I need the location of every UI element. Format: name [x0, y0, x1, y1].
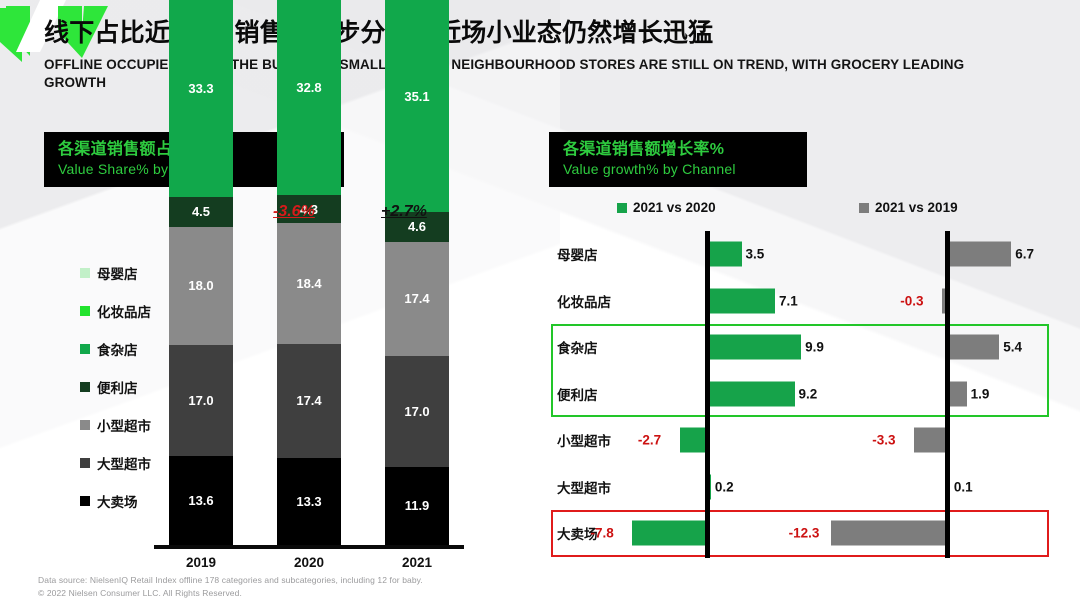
legend-swatch-icon	[80, 382, 90, 392]
stack-segment-大卖场[interactable]: 11.9	[385, 467, 449, 545]
growth-value-2021-vs-2020-化妆品店: 7.1	[779, 293, 798, 308]
right-banner-title-cn: 各渠道销售额增长率%	[563, 139, 793, 160]
legend-label: 食杂店	[97, 339, 138, 359]
legend-swatch-icon	[859, 203, 869, 213]
growth-bar-2021-vs-2019-母婴店[interactable]	[949, 242, 1011, 267]
growth-row-小型超市[interactable]: 小型超市-2.7-3.3	[549, 417, 1054, 464]
legend-label: 母婴店	[97, 263, 138, 283]
growth-bar-2021-vs-2020-食杂店[interactable]	[709, 335, 801, 360]
stacked-bar-2019[interactable]: 8.64.433.34.518.017.013.6	[169, 0, 233, 545]
row-category-label: 食杂店	[557, 337, 598, 357]
x-axis-line	[154, 545, 464, 549]
segment-value-label: 32.8	[296, 80, 321, 95]
segment-value-label: 17.4	[296, 393, 321, 408]
footer-data-source: Data source: NielsenIQ Retail Index offl…	[38, 574, 423, 587]
growth-row-大型超市[interactable]: 大型超市0.20.1	[549, 464, 1054, 511]
stack-segment-大卖场[interactable]: 13.3	[277, 458, 341, 545]
growth-value-2021-vs-2020-母婴店: 3.5	[746, 247, 765, 262]
growth-value-2021-vs-2019-化妆品店: -0.3	[900, 293, 923, 308]
growth-row-便利店[interactable]: 便利店9.21.9	[549, 371, 1054, 418]
right-chart-banner: 各渠道销售额增长率% Value growth% by Channel	[549, 132, 807, 187]
growth-value-2021-vs-2019-小型超市: -3.3	[872, 433, 895, 448]
growth-value-2021-vs-2019-大型超市: 0.1	[954, 479, 973, 494]
growth-value-2021-vs-2020-小型超市: -2.7	[638, 433, 661, 448]
segment-value-label: 17.0	[404, 404, 429, 419]
stack-segment-大型超市[interactable]: 17.0	[169, 345, 233, 456]
growth-value-2021-vs-2020-大型超市: 0.2	[715, 479, 734, 494]
x-axis-label-2020: 2020	[277, 555, 341, 570]
growth-row-母婴店[interactable]: 母婴店3.56.7	[549, 231, 1054, 278]
growth-row-大卖场[interactable]: 大卖场-7.8-12.3	[549, 510, 1054, 557]
x-axis-label-2021: 2021	[385, 555, 449, 570]
growth-value-2021-vs-2020-食杂店: 9.9	[805, 340, 824, 355]
legend-swatch-icon	[80, 458, 90, 468]
value-growth-diverging-chart: 2021 vs 20202021 vs 2019母婴店3.56.7化妆品店7.1…	[549, 200, 1054, 558]
footer-note: Data source: NielsenIQ Retail Index offl…	[38, 574, 423, 600]
vertical-axis-1	[945, 231, 950, 558]
growth-bar-2021-vs-2020-便利店[interactable]	[709, 381, 795, 406]
growth-bar-2021-vs-2020-大卖场[interactable]	[632, 521, 705, 546]
segment-value-label: 17.4	[404, 291, 429, 306]
row-category-label: 小型超市	[557, 430, 611, 450]
stacked-bar-2021[interactable]: 9.24.435.14.617.417.011.9	[385, 0, 449, 545]
segment-value-label: 35.1	[404, 89, 429, 104]
segment-value-label: 4.6	[408, 219, 426, 234]
stack-segment-大卖场[interactable]: 13.6	[169, 456, 233, 545]
legend-label: 化妆品店	[97, 301, 151, 321]
legend-label: 大卖场	[97, 491, 138, 511]
segment-value-label: 33.3	[188, 81, 213, 96]
row-category-label: 化妆品店	[557, 291, 611, 311]
legend-swatch-icon	[80, 306, 90, 316]
vertical-axis-0	[705, 231, 710, 558]
segment-value-label: 18.4	[296, 276, 321, 291]
stack-segment-便利店[interactable]: 4.5	[169, 197, 233, 226]
growth-bar-2021-vs-2020-小型超市[interactable]	[680, 428, 705, 453]
legend-swatch-icon	[80, 496, 90, 506]
legend-swatch-icon	[80, 420, 90, 430]
stack-segment-大型超市[interactable]: 17.0	[385, 356, 449, 467]
growth-bar-2021-vs-2019-便利店[interactable]	[949, 381, 967, 406]
segment-value-label: 17.0	[188, 393, 213, 408]
segment-value-label: 13.3	[296, 494, 321, 509]
row-category-label: 母婴店	[557, 244, 598, 264]
stack-segment-食杂店[interactable]: 33.3	[169, 0, 233, 197]
growth-value-2021-vs-2019-大卖场: -12.3	[789, 526, 820, 541]
growth-bar-2021-vs-2020-母婴店[interactable]	[709, 242, 742, 267]
growth-value-2021-vs-2019-便利店: 1.9	[971, 386, 990, 401]
stack-segment-食杂店[interactable]: 35.1	[385, 0, 449, 212]
legend-swatch-icon	[617, 203, 627, 213]
stack-segment-大型超市[interactable]: 17.4	[277, 344, 341, 458]
growth-bar-2021-vs-2020-化妆品店[interactable]	[709, 288, 775, 313]
stack-segment-小型超市[interactable]: 18.4	[277, 223, 341, 344]
legend-label: 2021 vs 2019	[875, 200, 958, 215]
yoy-delta-2020: -3.6%	[273, 203, 315, 221]
row-category-label: 便利店	[557, 384, 598, 404]
growth-bar-2021-vs-2019-大卖场[interactable]	[831, 521, 945, 546]
segment-value-label: 13.6	[188, 493, 213, 508]
right-legend-item-1[interactable]: 2021 vs 2019	[859, 200, 958, 215]
segment-value-label: 4.5	[192, 204, 210, 219]
growth-value-2021-vs-2019-母婴店: 6.7	[1015, 247, 1034, 262]
growth-row-化妆品店[interactable]: 化妆品店7.1-0.3	[549, 278, 1054, 325]
growth-bar-2021-vs-2019-小型超市[interactable]	[914, 428, 945, 453]
growth-value-2021-vs-2020-大卖场: -7.8	[590, 526, 613, 541]
stack-segment-小型超市[interactable]: 18.0	[169, 227, 233, 345]
growth-value-2021-vs-2020-便利店: 9.2	[799, 386, 818, 401]
stacked-bar-2020[interactable]: 9.14.232.84.318.417.413.3	[277, 0, 341, 545]
legend-label: 2021 vs 2020	[633, 200, 716, 215]
segment-value-label: 11.9	[405, 498, 430, 513]
right-banner-title-en: Value growth% by Channel	[563, 160, 793, 179]
stack-segment-小型超市[interactable]: 17.4	[385, 242, 449, 356]
value-share-stacked-chart: 母婴店化妆品店食杂店便利店小型超市大型超市大卖场8.64.433.34.518.…	[44, 200, 514, 570]
growth-bar-2021-vs-2019-食杂店[interactable]	[949, 335, 999, 360]
footer-copyright: © 2022 Nielsen Consumer LLC. All Rights …	[38, 587, 423, 600]
right-legend-item-0[interactable]: 2021 vs 2020	[617, 200, 716, 215]
legend-label: 大型超市	[97, 453, 151, 473]
segment-value-label: 18.0	[188, 278, 213, 293]
row-category-label: 大型超市	[557, 477, 611, 497]
legend-label: 小型超市	[97, 415, 151, 435]
growth-row-食杂店[interactable]: 食杂店9.95.4	[549, 324, 1054, 371]
legend-swatch-icon	[80, 344, 90, 354]
growth-value-2021-vs-2019-食杂店: 5.4	[1003, 340, 1022, 355]
legend-label: 便利店	[97, 377, 138, 397]
legend-swatch-icon	[80, 268, 90, 278]
yoy-delta-2021: +2.7%	[381, 203, 427, 221]
x-axis-label-2019: 2019	[169, 555, 233, 570]
stack-segment-食杂店[interactable]: 32.8	[277, 0, 341, 195]
